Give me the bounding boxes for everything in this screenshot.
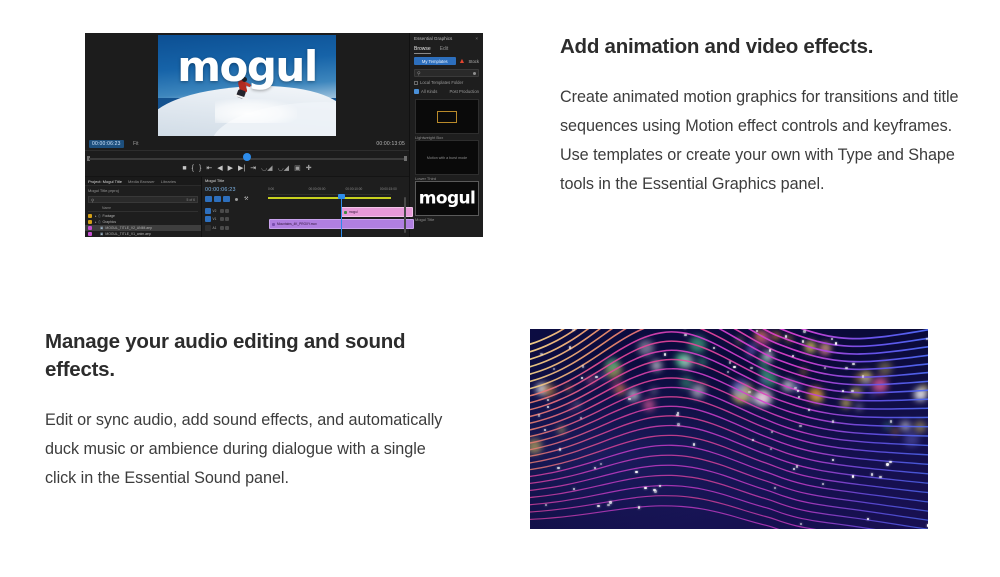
- checkbox-icon[interactable]: [414, 81, 418, 85]
- project-item-label: MOGUL_TITLE_V2_ANIM.aep: [105, 226, 152, 230]
- templates-search-input[interactable]: ⚲: [414, 69, 479, 77]
- disclosure-triangle-icon[interactable]: ▸: [95, 214, 97, 218]
- work-area-bar[interactable]: [268, 197, 391, 199]
- clip-label: mogul: [349, 210, 358, 214]
- tab-browse[interactable]: Browse: [414, 46, 431, 54]
- video-snow-spray: [215, 99, 297, 123]
- project-item-list[interactable]: ▸ ▯ Footage ▸ ▯ Graphics ▣ MOGUL_TITLE_V…: [85, 213, 201, 237]
- project-item-label: Footage: [103, 214, 115, 218]
- timeline-timecode[interactable]: 00:00:06:23: [205, 187, 236, 193]
- timeline-scrollbar[interactable]: [404, 197, 406, 233]
- linked-selection-icon[interactable]: [214, 196, 221, 202]
- file-icon: ▣: [100, 226, 103, 230]
- track-lock-icon[interactable]: [225, 209, 229, 213]
- stock-label[interactable]: Stock: [469, 59, 479, 64]
- label-color-chip: [88, 226, 92, 230]
- track-eye-icon[interactable]: [220, 217, 224, 221]
- go-to-out-icon[interactable]: ⇥: [250, 165, 256, 172]
- search-icon: ⚲: [91, 198, 94, 204]
- file-icon: ▣: [100, 232, 103, 236]
- item-count-label: 5 of 6: [187, 198, 195, 202]
- my-templates-button[interactable]: My Templates: [414, 57, 456, 65]
- search-icon: ⚲: [417, 71, 421, 77]
- project-filename: Mogul Title.prproj: [88, 188, 119, 193]
- timeline-playhead[interactable]: [341, 194, 342, 237]
- local-templates-checkbox[interactable]: Local Templates Folder: [414, 80, 463, 85]
- project-column-header[interactable]: Name: [88, 206, 198, 212]
- track-header-v1[interactable]: V1: [205, 216, 263, 223]
- track-header-v2[interactable]: V2: [205, 207, 263, 214]
- extract-icon[interactable]: ◡◢: [278, 165, 290, 172]
- zoom-level-dropdown[interactable]: Fit: [133, 141, 139, 147]
- timeline-clip-v2[interactable]: mogul: [341, 207, 413, 217]
- template-label-3: Mogul Title: [415, 217, 434, 222]
- program-monitor: mogul: [85, 33, 409, 138]
- label-color-chip: [88, 214, 92, 218]
- track-name: V1: [213, 217, 217, 221]
- track-solo-icon[interactable]: [225, 226, 229, 230]
- clip-fx-icon: [344, 211, 347, 214]
- timeline-tab-label[interactable]: Mogul Title: [205, 178, 224, 183]
- timeline-settings-icon[interactable]: ⚒: [244, 196, 248, 202]
- export-frame-icon[interactable]: ▣: [294, 165, 301, 172]
- premiere-pro-screenshot: mogul 00:00:06:23 Fit 00:00:13:05 ■ { } …: [85, 33, 483, 237]
- feature-animation-body: Create animated motion graphics for tran…: [560, 83, 980, 199]
- track-headers[interactable]: V2 V1 A1: [205, 207, 263, 233]
- rectangle-outline-icon: [437, 111, 457, 123]
- clip-fx-icon: [272, 223, 275, 226]
- adobe-stock-icon[interactable]: ▲: [459, 57, 466, 65]
- template-preview-text-2: Motion with a burst mode: [416, 156, 478, 160]
- templates-filter-row[interactable]: All Kinds Post Production: [414, 89, 479, 94]
- templates-source-row[interactable]: My Templates ▲ Stock: [414, 57, 479, 65]
- feature-audio-text: Manage your audio editing and sound effe…: [45, 328, 445, 493]
- play-stop-icon[interactable]: ▶: [228, 165, 233, 172]
- track-mute-icon[interactable]: [220, 226, 224, 230]
- local-templates-label: Local Templates Folder: [420, 80, 463, 85]
- project-panel-tabs[interactable]: Project: Mogul Title Media Browser Libra…: [85, 177, 201, 186]
- grid-view-icon[interactable]: [414, 89, 419, 94]
- template-thumbnail-2[interactable]: Motion with a burst mode: [415, 140, 479, 175]
- feature-audio-heading: Manage your audio editing and sound effe…: [45, 328, 445, 384]
- timeline-toolbar[interactable]: ⚒: [205, 196, 248, 202]
- mark-out-icon[interactable]: {: [192, 165, 194, 172]
- track-header-a1[interactable]: A1: [205, 224, 263, 231]
- marker-toggle-icon[interactable]: [223, 196, 230, 202]
- tab-edit[interactable]: Edit: [440, 46, 449, 54]
- essential-graphics-panel: Essential Graphics × Browse Edit My Temp…: [409, 33, 483, 237]
- tab-media-browser[interactable]: Media Browser: [128, 179, 155, 184]
- feature-animation-heading: Add animation and video effects.: [560, 33, 980, 61]
- track-name: V2: [213, 209, 217, 213]
- project-search-input[interactable]: ⚲ 5 of 6: [88, 196, 198, 203]
- button-editor-icon[interactable]: ✚: [306, 165, 312, 172]
- current-timecode[interactable]: 00:00:06:23: [89, 140, 124, 148]
- add-marker-icon[interactable]: [235, 198, 238, 201]
- essential-graphics-title: Essential Graphics: [414, 36, 452, 41]
- track-eye-icon[interactable]: [220, 209, 224, 213]
- bin-icon: ▯: [99, 220, 101, 224]
- step-forward-icon[interactable]: ▶|: [238, 165, 245, 172]
- close-icon[interactable]: ×: [475, 36, 478, 41]
- track-lock-icon[interactable]: [225, 217, 229, 221]
- bin-icon: ▯: [99, 214, 101, 218]
- project-panel: Project: Mogul Title Media Browser Libra…: [85, 176, 201, 237]
- clip-label: Mountains_4K_PROXY.mov: [277, 222, 317, 226]
- track-target-icon[interactable]: [205, 208, 211, 214]
- lift-icon[interactable]: ◡◢: [261, 165, 273, 172]
- tab-project[interactable]: Project: Mogul Title: [88, 179, 122, 184]
- track-target-icon[interactable]: [205, 216, 211, 222]
- track-name: A1: [213, 226, 217, 230]
- program-monitor-video: mogul: [158, 35, 336, 136]
- template-thumbnail-3[interactable]: mogul: [415, 181, 479, 216]
- template-thumbnail-1[interactable]: [415, 99, 479, 134]
- timeline-panel: Mogul Title 00:00:06:23 ⚒ 0:00 00:00:05:…: [201, 176, 409, 237]
- ruler-tick: 0:00: [268, 187, 274, 191]
- disclosure-triangle-icon[interactable]: ▸: [95, 220, 97, 224]
- label-color-chip: [88, 220, 92, 224]
- ruler-tick: 00:00:15:00: [380, 187, 397, 191]
- mark-in-icon[interactable]: ■: [182, 165, 186, 172]
- go-to-in-icon[interactable]: ⇤: [206, 165, 212, 172]
- duration-timecode: 00:00:13:05: [376, 141, 405, 147]
- category-filter-dropdown[interactable]: Post Production: [449, 89, 479, 94]
- essential-graphics-tabs[interactable]: Browse Edit: [414, 46, 448, 54]
- video-title-overlay: mogul: [158, 48, 336, 87]
- track-target-icon[interactable]: [205, 225, 211, 231]
- tab-libraries[interactable]: Libraries: [161, 179, 176, 184]
- mark-clip-icon[interactable]: }: [199, 165, 201, 172]
- monitor-scrubber[interactable]: [85, 150, 409, 161]
- template-preview-text-3: mogul: [416, 190, 478, 207]
- feature-animation-text: Add animation and video effects. Create …: [560, 33, 980, 199]
- feature-page: mogul 00:00:06:23 Fit 00:00:13:05 ■ { } …: [0, 0, 1000, 577]
- program-monitor-statusbar: 00:00:06:23 Fit 00:00:13:05: [85, 138, 409, 150]
- kind-filter-dropdown[interactable]: All Kinds: [414, 89, 437, 94]
- project-item-label: MOGUL_TITLE_V1_anim.aep: [105, 232, 150, 236]
- transport-controls[interactable]: ■ { } ⇤ ◀ ▶ ▶| ⇥ ◡◢ ◡◢ ▣ ✚: [85, 161, 409, 176]
- clear-search-icon[interactable]: [473, 72, 476, 75]
- monitor-playhead-icon[interactable]: [243, 153, 251, 161]
- label-color-chip: [88, 232, 92, 236]
- step-back-icon[interactable]: ◀: [217, 165, 222, 172]
- ruler-tick: 00:00:10:00: [345, 187, 362, 191]
- snap-toggle-icon[interactable]: [205, 196, 212, 202]
- audio-wave-image: [530, 329, 928, 529]
- ruler-baseline: [268, 194, 391, 195]
- feature-audio-body: Edit or sync audio, add sound effects, a…: [45, 406, 445, 493]
- project-item-label: Graphics: [103, 220, 117, 224]
- ruler-tick: 00:00:05:00: [309, 187, 326, 191]
- wave-highlight-dots: [530, 329, 928, 529]
